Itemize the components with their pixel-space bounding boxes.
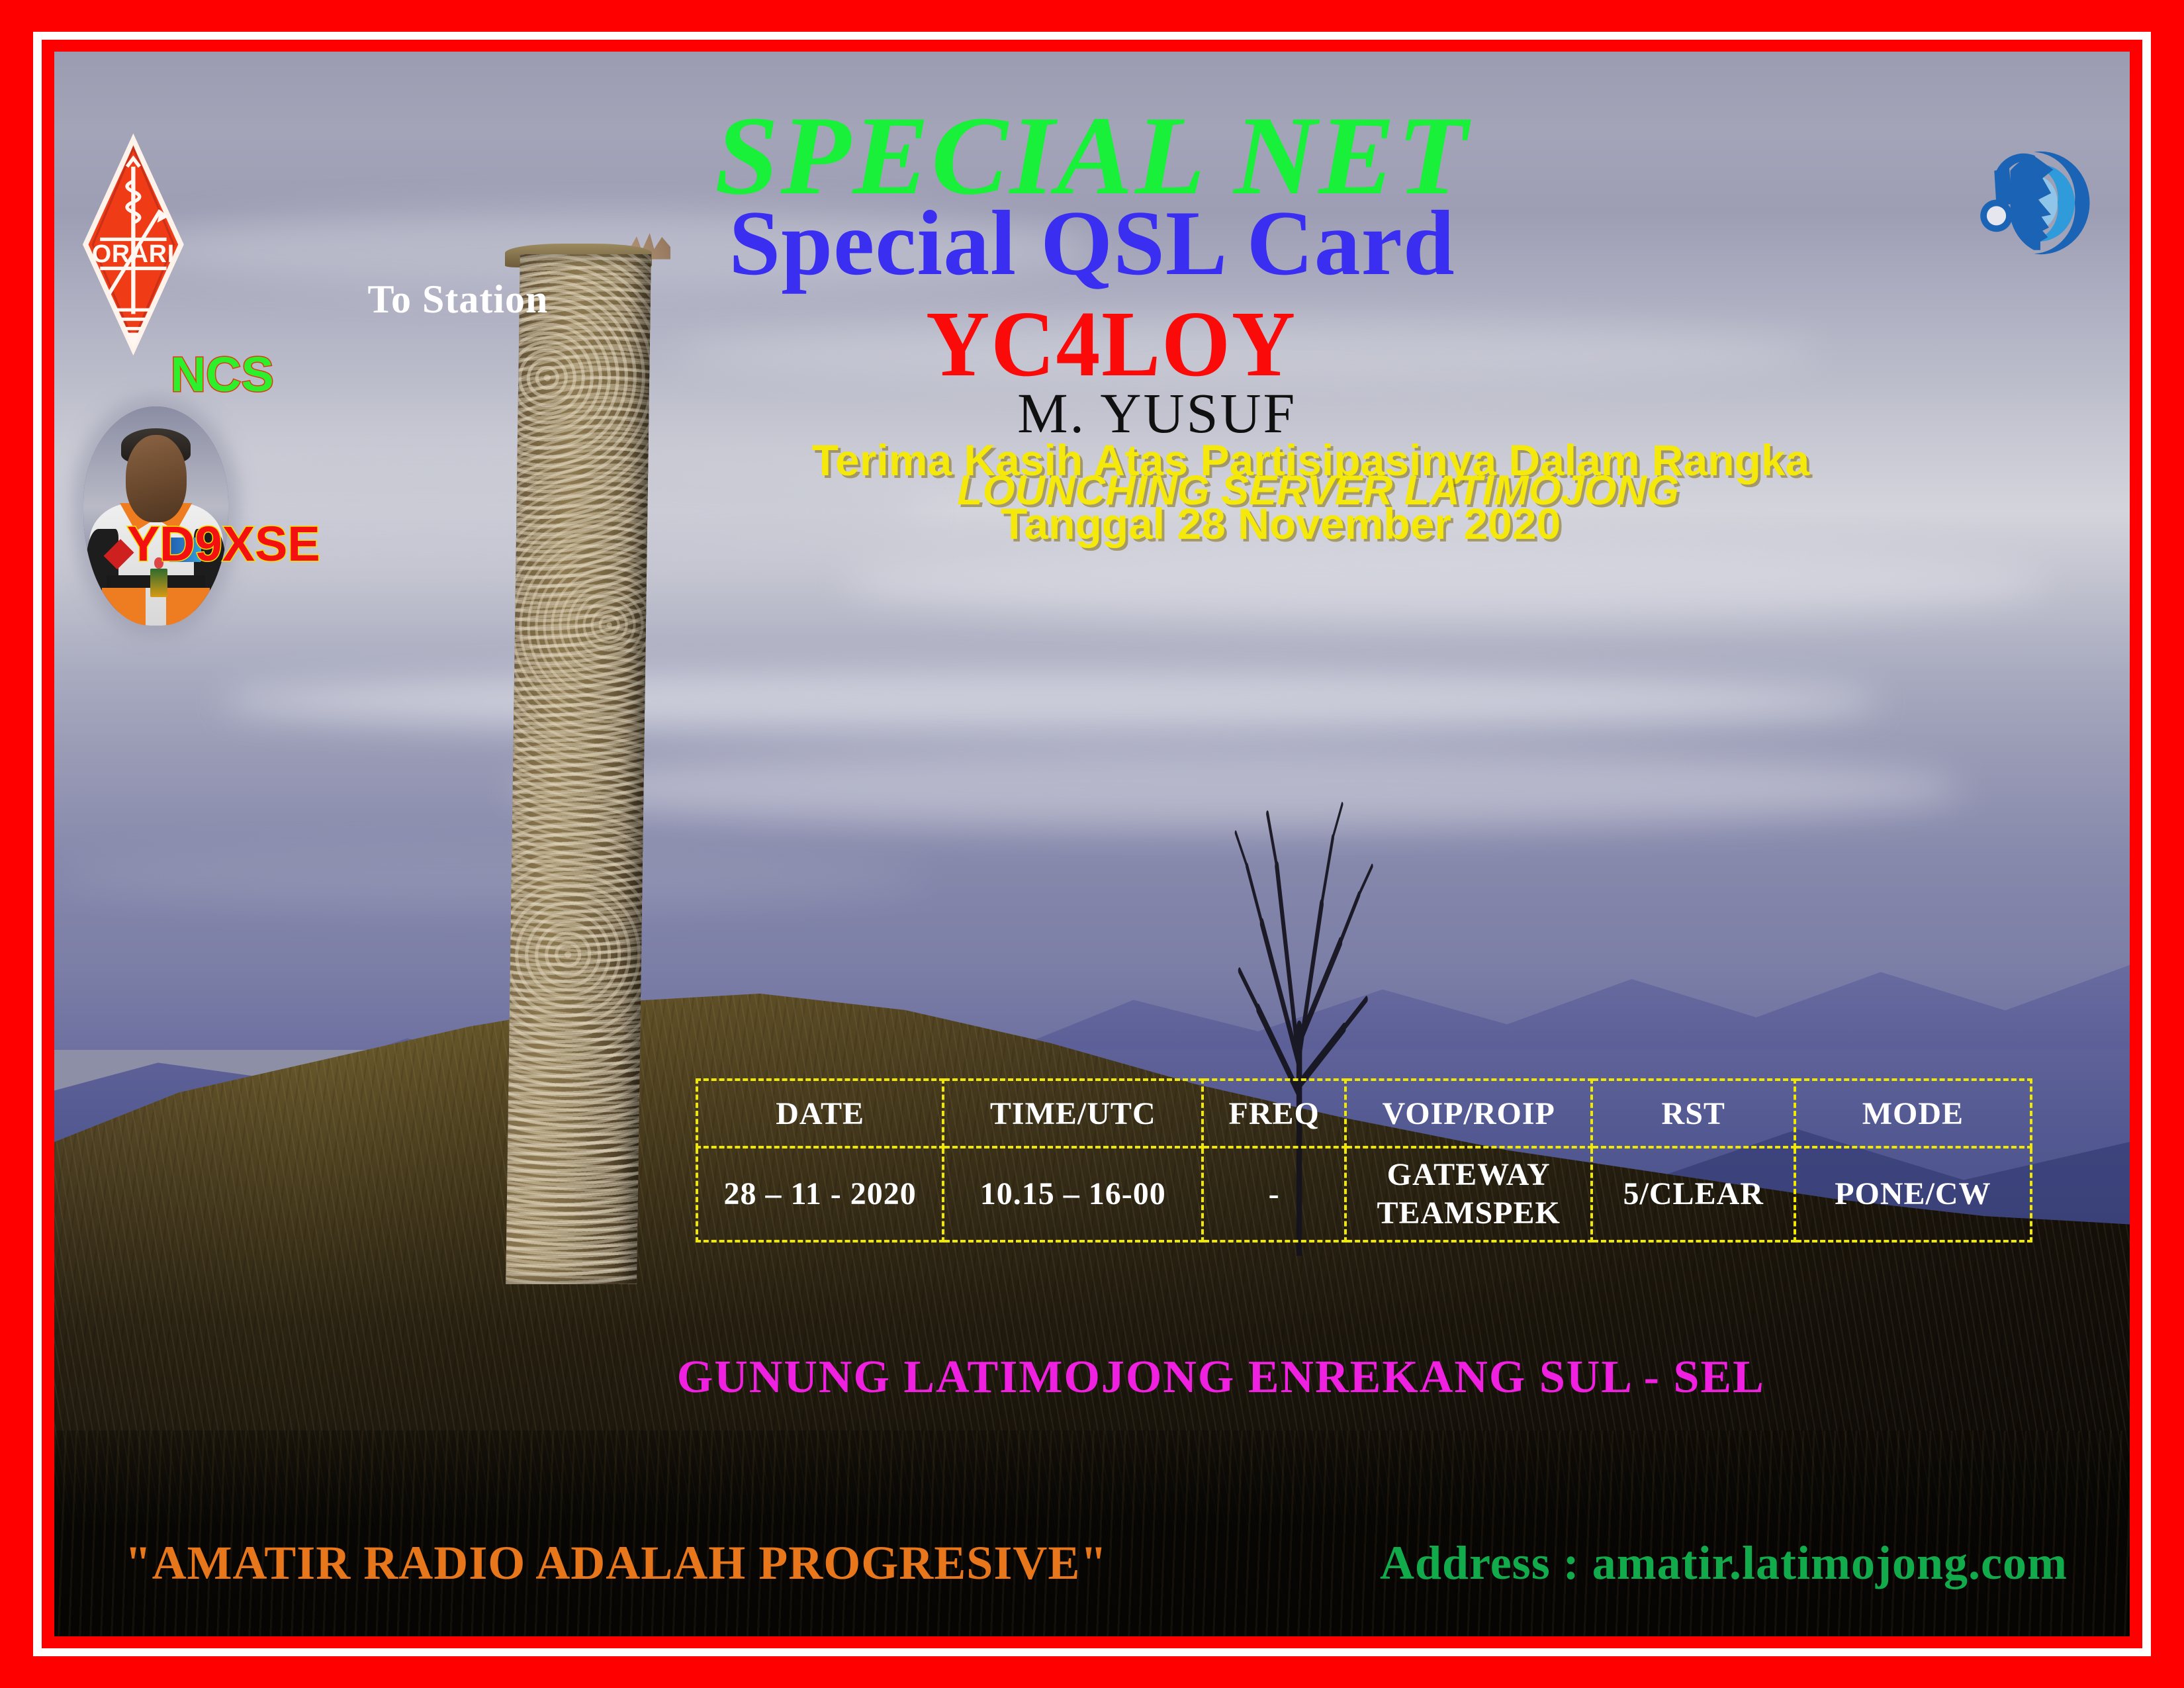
- to-station-label: To Station: [368, 277, 549, 322]
- column-header-mode: MODE: [1795, 1080, 2030, 1147]
- dark-foreground-texture: [54, 1430, 2130, 1636]
- cell-date: 28 – 11 - 2020: [697, 1147, 943, 1241]
- cell-voip: GATEWAY TEAMSPEK: [1345, 1147, 1592, 1241]
- column-header-date: DATE: [697, 1080, 943, 1147]
- cloud-band: [843, 543, 2047, 622]
- subtitle: Special QSL Card: [54, 197, 2130, 290]
- cell-time: 10.15 – 16-00: [943, 1147, 1203, 1241]
- cell-voip-line1: GATEWAY: [1387, 1157, 1551, 1192]
- ncs-label: NCS: [171, 346, 274, 402]
- cell-mode: PONE/CW: [1795, 1147, 2030, 1241]
- ncs-callsign: YD9XSE: [127, 516, 320, 572]
- table-row: 28 – 11 - 2020 10.15 – 16-00 - GATEWAY T…: [697, 1147, 2031, 1241]
- column-header-time: TIME/UTC: [943, 1080, 1203, 1147]
- cloud-band: [220, 670, 1881, 733]
- motto-text: "AMATIR RADIO ADALAH PROGRESIVE": [125, 1536, 1108, 1591]
- card-photo-plate: ORARI: [54, 52, 2130, 1636]
- qsl-card: ORARI: [0, 0, 2184, 1688]
- qso-log-table: DATE TIME/UTC FREQ VOIP/ROIP RST MODE 28…: [696, 1078, 2032, 1243]
- summit-stone-pillar: [506, 254, 651, 1284]
- cell-freq: -: [1203, 1147, 1345, 1241]
- website-address: Address : amatir.latimojong.com: [1380, 1536, 2068, 1591]
- uniform-orange-left: [102, 588, 146, 625]
- cloud-band: [54, 844, 926, 908]
- event-date-line: Tanggal 28 November 2020: [1001, 498, 1561, 549]
- column-header-voip: VOIP/ROIP: [1345, 1080, 1592, 1147]
- cell-voip-line2: TEAMSPEK: [1377, 1196, 1560, 1231]
- cell-rst: 5/CLEAR: [1592, 1147, 1795, 1241]
- operator-face: [126, 435, 187, 522]
- uniform-orange-right: [166, 588, 210, 625]
- column-header-freq: FREQ: [1203, 1080, 1345, 1147]
- column-header-rst: RST: [1592, 1080, 1795, 1147]
- id-card: [150, 569, 167, 597]
- location-line: GUNUNG LATIMOJONG ENREKANG SUL - SEL: [677, 1351, 1765, 1404]
- table-header-row: DATE TIME/UTC FREQ VOIP/ROIP RST MODE: [697, 1080, 2031, 1147]
